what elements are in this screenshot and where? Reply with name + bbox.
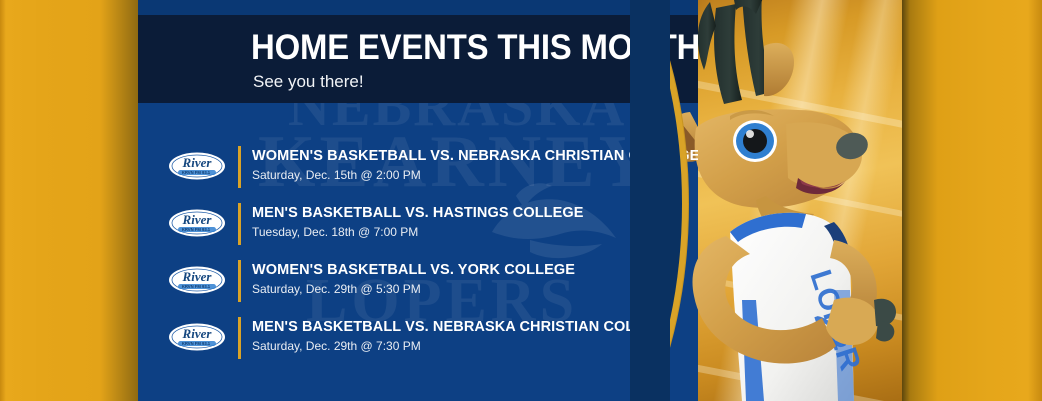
accent-bar [238, 260, 241, 302]
panel-top-strip [138, 0, 698, 15]
river-logo-wordmark: River [182, 269, 213, 284]
event-date: Saturday, Dec. 29th @ 7:30 PM [252, 339, 682, 354]
river-logo-wordmark: River [182, 212, 213, 227]
event-text-group: WOMEN'S BASKETBALL VS. NEBRASKA CHRISTIA… [252, 147, 682, 183]
river-logo-callsign: KRVN FM 93.1 [182, 227, 211, 232]
event-list: River KRVN FM 93.1 WOMEN'S BASKETBALL VS… [138, 138, 698, 366]
list-item[interactable]: River KRVN FM 93.1 WOMEN'S BASKETBALL VS… [138, 138, 698, 195]
gold-background-right [900, 0, 1042, 401]
event-title: MEN'S BASKETBALL VS. NEBRASKA CHRISTIAN … [252, 318, 682, 336]
content-panel: NEBRASKA KEARNEY TM LOPERS HOME EVENTS T… [138, 0, 698, 401]
river-logo-callsign: KRVN FM 93.1 [182, 170, 211, 175]
accent-bar [238, 203, 241, 245]
event-text-group: MEN'S BASKETBALL VS. HASTINGS COLLEGE Tu… [252, 204, 682, 240]
river-logo-callsign: KRVN FM 93.1 [182, 284, 211, 289]
event-text-group: MEN'S BASKETBALL VS. NEBRASKA CHRISTIAN … [252, 318, 682, 354]
event-date: Saturday, Dec. 29th @ 5:30 PM [252, 282, 682, 297]
accent-bar [238, 146, 241, 188]
river-radio-logo-icon: River KRVN FM 93.1 [168, 265, 226, 295]
event-date: Saturday, Dec. 15th @ 2:00 PM [252, 168, 682, 183]
river-logo-callsign: KRVN FM 93.1 [182, 341, 211, 346]
list-item[interactable]: River KRVN FM 93.1 MEN'S BASKETBALL VS. … [138, 195, 698, 252]
river-radio-logo-icon: River KRVN FM 93.1 [168, 322, 226, 352]
river-logo-wordmark: River [182, 155, 213, 170]
promo-graphic: LOPER 22 NEBRASKA KEARNEY [0, 0, 1042, 401]
list-item[interactable]: River KRVN FM 93.1 MEN'S BASKETBALL VS. … [138, 309, 698, 366]
event-text-group: WOMEN'S BASKETBALL VS. YORK COLLEGE Satu… [252, 261, 682, 297]
list-item[interactable]: River KRVN FM 93.1 WOMEN'S BASKETBALL VS… [138, 252, 698, 309]
curve-fill [630, 0, 670, 401]
river-radio-logo-icon: River KRVN FM 93.1 [168, 151, 226, 181]
event-title: WOMEN'S BASKETBALL VS. NEBRASKA CHRISTIA… [252, 147, 682, 165]
accent-bar [238, 317, 241, 359]
event-date: Tuesday, Dec. 18th @ 7:00 PM [252, 225, 682, 240]
event-title: WOMEN'S BASKETBALL VS. YORK COLLEGE [252, 261, 682, 279]
river-logo-wordmark: River [182, 326, 213, 341]
event-title: MEN'S BASKETBALL VS. HASTINGS COLLEGE [252, 204, 682, 222]
river-radio-logo-icon: River KRVN FM 93.1 [168, 208, 226, 238]
